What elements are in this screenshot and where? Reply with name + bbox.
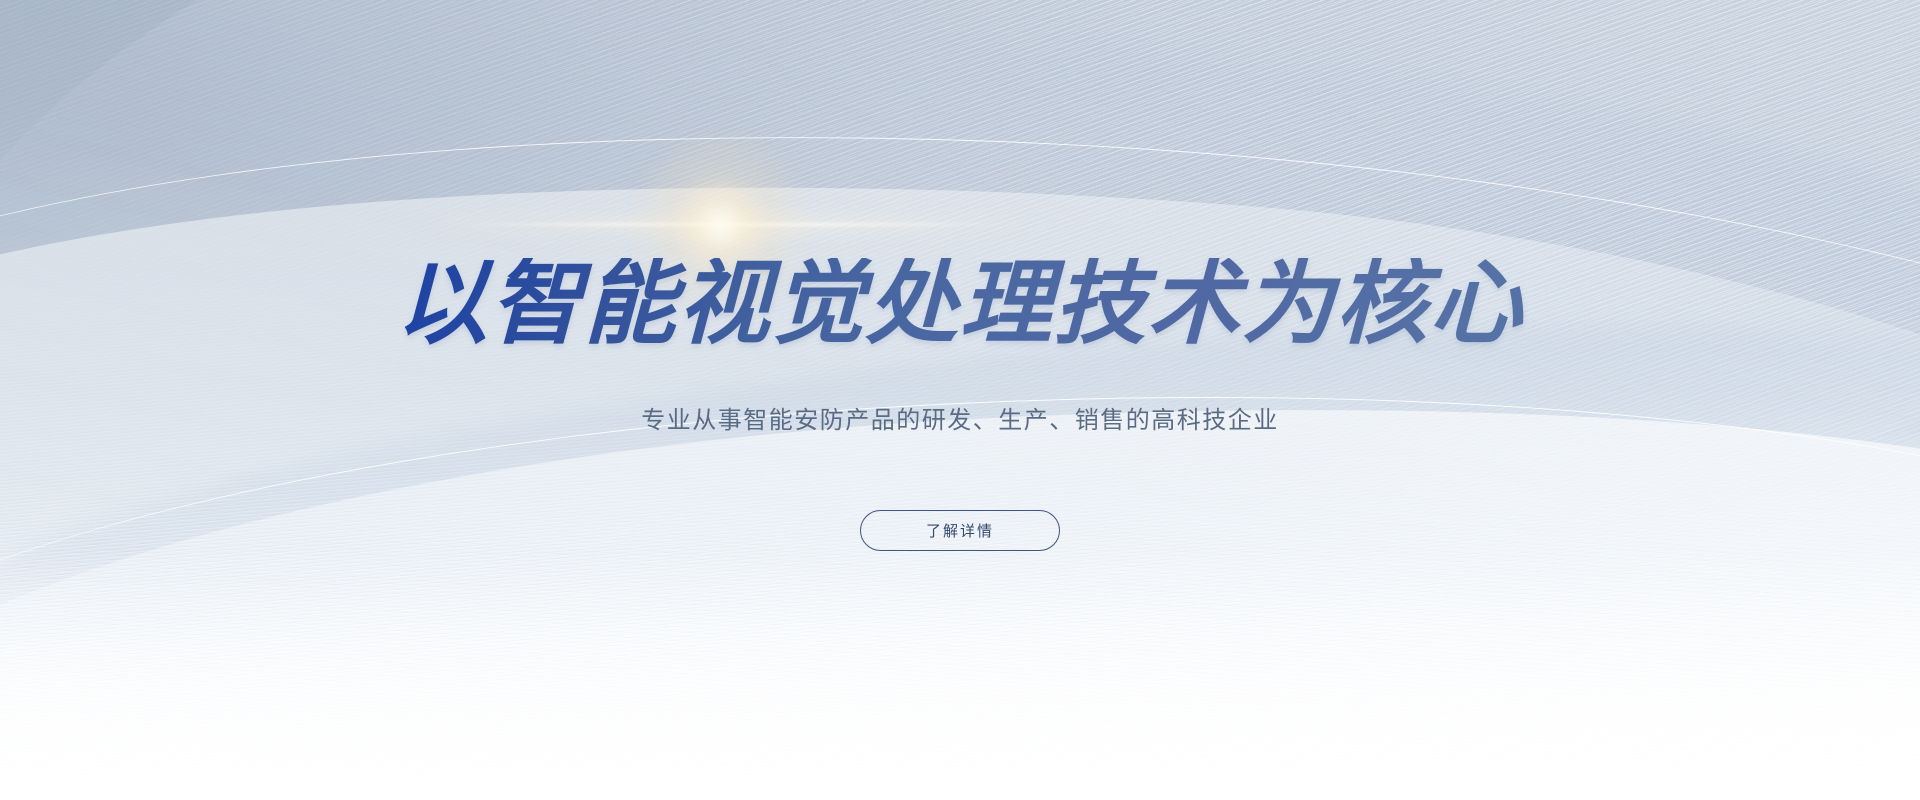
hero-content: 以智能视觉处理技术为核心 以智能视觉处理技术为核心 专业从事智能安防产品的研发、… [0, 0, 1920, 800]
hero-cta-wrapper: 了解详情 [0, 510, 1920, 551]
hero-banner: 以智能视觉处理技术为核心 以智能视觉处理技术为核心 专业从事智能安防产品的研发、… [0, 0, 1920, 800]
hero-headline: 以智能视觉处理技术为核心 [0, 258, 1920, 350]
hero-subtitle: 专业从事智能安防产品的研发、生产、销售的高科技企业 [0, 404, 1920, 438]
learn-more-button[interactable]: 了解详情 [860, 510, 1060, 551]
